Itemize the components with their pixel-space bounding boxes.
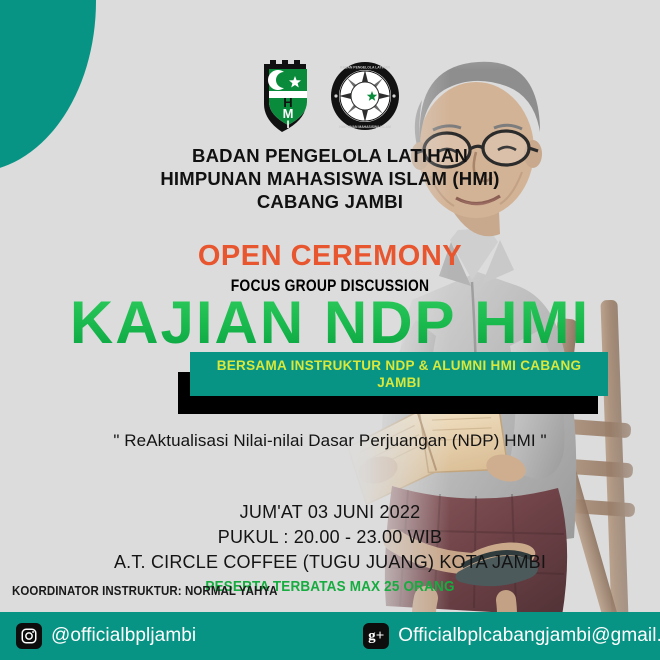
poster-canvas: H M I xyxy=(0,0,660,660)
contact-footer: @officialbpljambi g+ Officialbplcabangja… xyxy=(0,612,660,660)
event-venue: A.T. CIRCLE COFFEE (TUGU JUANG) KOTA JAM… xyxy=(0,550,660,575)
google-plus-icon[interactable]: g+ xyxy=(363,623,389,649)
svg-text:BADAN PENGELOLA LATIHAN: BADAN PENGELOLA LATIHAN xyxy=(340,66,390,70)
event-time: PUKUL : 20.00 - 23.00 WIB xyxy=(0,525,660,550)
google-plus-contact[interactable]: g+ Officialbplcabangjambi@gmail.com xyxy=(363,623,660,649)
hmi-shield-logo: H M I xyxy=(260,58,316,139)
contact-email: Officialbplcabangjambi@gmail.com xyxy=(398,625,660,647)
org-line-2: HIMPUNAN MAHASISWA ISLAM (HMI) xyxy=(0,167,660,190)
logo-row: H M I xyxy=(0,58,660,139)
event-theme: " ReAktualisasi Nilai-nilai Dasar Perjua… xyxy=(0,431,660,451)
open-ceremony-label: OPEN CEREMONY xyxy=(0,240,660,273)
svg-text:I: I xyxy=(286,119,289,131)
instagram-contact[interactable]: @officialbpljambi xyxy=(16,623,196,649)
event-date: JUM'AT 03 JUNI 2022 xyxy=(0,500,660,525)
coordinator-note: KOORDINATOR INSTRUKTUR: NORMAL YAHYA xyxy=(12,584,277,598)
event-title: KAJIAN NDP HMI xyxy=(0,292,660,354)
org-line-1: BADAN PENGELOLA LATIHAN xyxy=(0,144,660,167)
instagram-handle: @officialbpljambi xyxy=(51,625,196,647)
banner-speakers: BERSAMA INSTRUKTUR NDP & ALUMNI HMI CABA… xyxy=(190,352,608,396)
instagram-icon[interactable] xyxy=(16,623,42,649)
svg-text:HIMPUNAN MAHASISWA ISLAM: HIMPUNAN MAHASISWA ISLAM xyxy=(339,125,391,129)
google-plus-glyph: g+ xyxy=(368,629,384,644)
org-line-3: CABANG JAMBI xyxy=(0,190,660,213)
event-details: JUM'AT 03 JUNI 2022 PUKUL : 20.00 - 23.0… xyxy=(0,500,660,595)
bpl-circular-logo: BADAN PENGELOLA LATIHAN HIMPUNAN MAHASIS… xyxy=(330,61,400,136)
organization-name: BADAN PENGELOLA LATIHAN HIMPUNAN MAHASIS… xyxy=(0,144,660,213)
